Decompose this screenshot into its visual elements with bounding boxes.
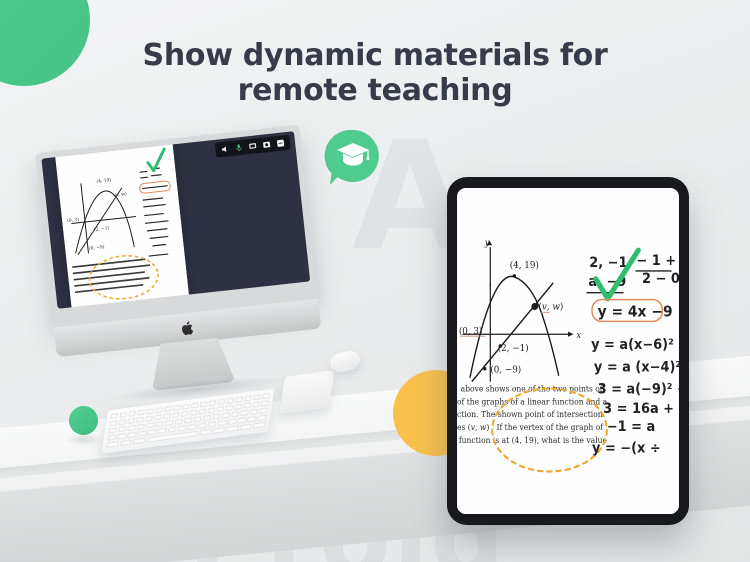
- svg-text:y = a(x−6)² +: y = a(x−6)² +: [591, 338, 679, 353]
- tablet-device: y x (4, 19) (v, w) (0, 3) (2, −1) (0, −9…: [447, 177, 689, 525]
- imac-screen[interactable]: (4, 19) (v, w) (0, 3) (2, −1) (0, −9): [41, 131, 310, 309]
- speaker-icon[interactable]: [220, 144, 230, 154]
- svg-text:3 = a(−9)² +: 3 = a(−9)² +: [598, 382, 679, 397]
- svg-text:y: y: [484, 238, 490, 248]
- mouse[interactable]: [328, 349, 362, 375]
- record-icon[interactable]: [262, 140, 272, 150]
- svg-text:(0, 3): (0, 3): [459, 326, 483, 337]
- page-title: Show dynamic materials for remote teachi…: [0, 38, 750, 109]
- svg-text:−1 = a: −1 = a: [607, 420, 655, 435]
- imac-document-page: (4, 19) (v, w) (0, 3) (2, −1) (0, −9): [55, 139, 190, 308]
- svg-text:es (v, w) . If the vertex of: es (v, w) . If the vertex of the graph o…: [457, 423, 604, 432]
- tablet-screen[interactable]: y x (4, 19) (v, w) (0, 3) (2, −1) (0, −9…: [457, 188, 679, 514]
- imac-desktop: (4, 19) (v, w) (0, 3) (2, −1) (0, −9): [35, 124, 332, 412]
- svg-text:(v, w): (v, w): [115, 192, 128, 198]
- svg-text:2 − 0: 2 − 0: [642, 271, 679, 286]
- svg-text:(0, −9): (0, −9): [89, 245, 105, 252]
- svg-text:(2, −1): (2, −1): [498, 343, 529, 354]
- share-screen-icon[interactable]: [248, 141, 258, 151]
- svg-text:ction. The shown point of int: ction. The shown point of intersection: [457, 410, 603, 419]
- worksheet: y x (4, 19) (v, w) (0, 3) (2, −1) (0, −9…: [457, 188, 679, 514]
- svg-text:(v, w): (v, w): [538, 301, 563, 312]
- more-options-icon[interactable]: [276, 138, 286, 148]
- svg-text:y = −(x ÷: y = −(x ÷: [592, 441, 661, 456]
- svg-text:(2, −1): (2, −1): [94, 226, 110, 233]
- education-chat-badge: [323, 127, 383, 187]
- svg-text:(4, 19): (4, 19): [96, 178, 111, 185]
- svg-text:function is at (4, 19), what: function is at (4, 19), what is the valu…: [459, 436, 607, 445]
- imac-body: (4, 19) (v, w) (0, 3) (2, −1) (0, −9): [35, 125, 318, 328]
- svg-text:− 1 + 9: − 1 + 9: [636, 254, 679, 269]
- trackpad[interactable]: [279, 370, 334, 414]
- svg-text:(0, −9): (0, −9): [490, 364, 521, 375]
- svg-text:y = 4x −9: y = 4x −9: [598, 304, 673, 321]
- svg-text:2, −1: 2, −1: [589, 256, 627, 271]
- microphone-icon[interactable]: [234, 143, 244, 153]
- video-call-toolbar[interactable]: [215, 135, 291, 158]
- svg-text:x: x: [576, 331, 581, 341]
- svg-text:above shows one of the two poi: above shows one of the two points of: [461, 384, 604, 393]
- apple-logo: [180, 320, 195, 336]
- poster-canvas: A i Projq Show dynamic materials for rem…: [0, 0, 750, 562]
- svg-text:y = a (x−4)²: y = a (x−4)²: [594, 360, 679, 375]
- decorative-green-sphere: [69, 406, 98, 435]
- svg-text:of the graphs of a linear func: of the graphs of a linear function and a: [457, 397, 607, 406]
- worksheet-mini: (4, 19) (v, w) (0, 3) (2, −1) (0, −9): [55, 139, 190, 308]
- svg-text:3 = 16a + 1: 3 = 16a + 1: [603, 402, 679, 417]
- svg-text:(4, 19): (4, 19): [510, 260, 539, 271]
